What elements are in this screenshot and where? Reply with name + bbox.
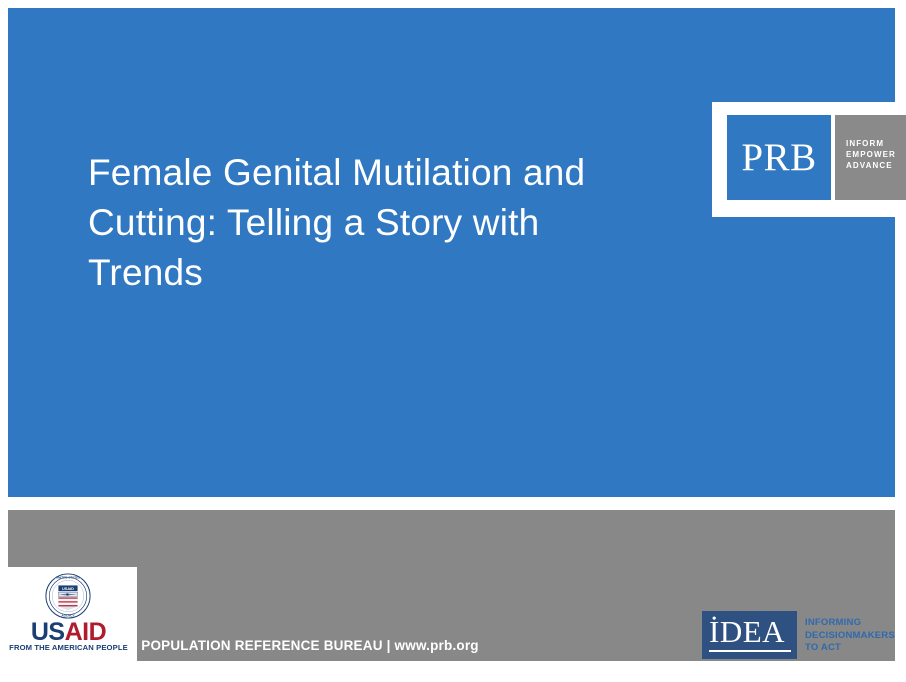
prb-logo-tagline-block: INFORM EMPOWER ADVANCE	[835, 115, 906, 200]
svg-text:USAID: USAID	[62, 587, 74, 591]
idea-logo-underline	[709, 650, 791, 652]
slide-title: Female Genital Mutilation and Cutting: T…	[88, 148, 658, 298]
prb-logo: PRB INFORM EMPOWER ADVANCE	[712, 102, 906, 217]
usaid-tagline: FROM THE AMERICAN PEOPLE	[0, 644, 138, 652]
usaid-wordmark-us: US	[31, 618, 65, 646]
idea-logo-text: İDEA	[709, 615, 785, 649]
presentation-slide: Female Genital Mutilation and Cutting: T…	[0, 0, 906, 682]
prb-logo-text: PRB	[741, 138, 816, 177]
idea-logo-tagline: INFORMING DECISIONMAKERS TO ACT	[805, 617, 895, 655]
usaid-wordmark-aid: AID	[65, 618, 107, 646]
idea-logo-mark: İDEA	[702, 611, 797, 659]
usaid-wordmark: USAID	[0, 620, 137, 645]
svg-text:UNITED STATES: UNITED STATES	[56, 576, 80, 580]
prb-logo-tagline: INFORM EMPOWER ADVANCE	[846, 138, 896, 171]
usaid-logo: UNITED STATES AGENCY USAID USAID FROM TH…	[0, 567, 137, 664]
prb-logo-mark: PRB	[727, 115, 831, 200]
idea-logo: İDEA INFORMING DECISIONMAKERS TO ACT	[702, 611, 906, 669]
usaid-seal-icon: UNITED STATES AGENCY USAID	[44, 572, 92, 620]
